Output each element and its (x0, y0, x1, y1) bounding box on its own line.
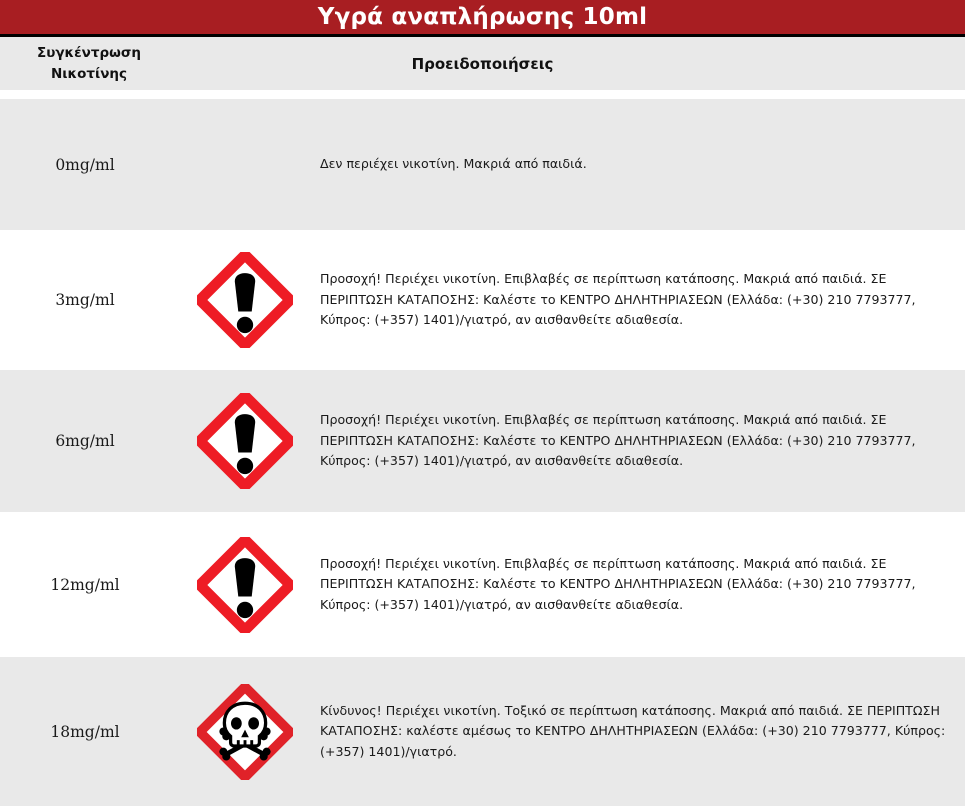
cell-concentration: 3mg/ml (0, 291, 170, 309)
cell-concentration: 6mg/ml (0, 432, 170, 450)
column-header-concentration-line1: Συγκέντρωση (8, 43, 170, 64)
cell-warning-text: Προσοχή! Περιέχει νικοτίνη. Επιβλαβές σε… (320, 269, 965, 330)
column-header-concentration: Συγκέντρωση Νικοτίνης (0, 43, 170, 85)
ghs06-skull-and-crossbones-icon (197, 684, 293, 780)
ghs07-exclamation-mark-icon (197, 393, 293, 489)
cell-warning-text: Προσοχή! Περιέχει νικοτίνη. Επιβλαβές σε… (320, 410, 965, 471)
cell-warning-text: Δεν περιέχει νικοτίνη. Μακριά από παιδιά… (320, 154, 965, 174)
column-header-concentration-line2: Νικοτίνης (8, 64, 170, 85)
table-row: 3mg/ml Προσοχή! Περιέχει νικοτίνη. Επιβλ… (0, 230, 965, 370)
page-title: Υγρά αναπλήρωσης 10ml (318, 6, 647, 29)
cell-concentration: 18mg/ml (0, 723, 170, 741)
cell-pictogram (170, 537, 320, 633)
nicotine-warnings-table-page: Υγρά αναπλήρωσης 10ml Συγκέντρωση Νικοτί… (0, 0, 965, 804)
table-row: 12mg/ml Προσοχή! Περιέχει νικοτίνη. Επιβ… (0, 512, 965, 657)
ghs07-exclamation-mark-icon (197, 252, 293, 348)
page-title-banner: Υγρά αναπλήρωσης 10ml (0, 0, 965, 37)
cell-concentration: 12mg/ml (0, 576, 170, 594)
ghs07-exclamation-mark-icon (197, 537, 293, 633)
cell-warning-text: Κίνδυνος! Περιέχει νικοτίνη. Τοξικό σε π… (320, 701, 965, 762)
no-pictogram-placeholder (197, 117, 293, 213)
header-separator (0, 90, 965, 99)
cell-pictogram (170, 393, 320, 489)
cell-pictogram (170, 684, 320, 780)
table-row: 0mg/ml Δεν περιέχει νικοτίνη. Μακριά από… (0, 99, 965, 230)
cell-warning-text: Προσοχή! Περιέχει νικοτίνη. Επιβλαβές σε… (320, 554, 965, 615)
column-header-warnings: Προειδοποιήσεις (320, 55, 965, 73)
table-header-row: Συγκέντρωση Νικοτίνης Προειδοποιήσεις (0, 37, 965, 90)
table-row: 18mg/ml (0, 657, 965, 806)
cell-concentration: 0mg/ml (0, 156, 170, 174)
table-row: 6mg/ml Προσοχή! Περιέχει νικοτίνη. Επιβλ… (0, 370, 965, 512)
cell-pictogram (170, 252, 320, 348)
cell-pictogram (170, 117, 320, 213)
